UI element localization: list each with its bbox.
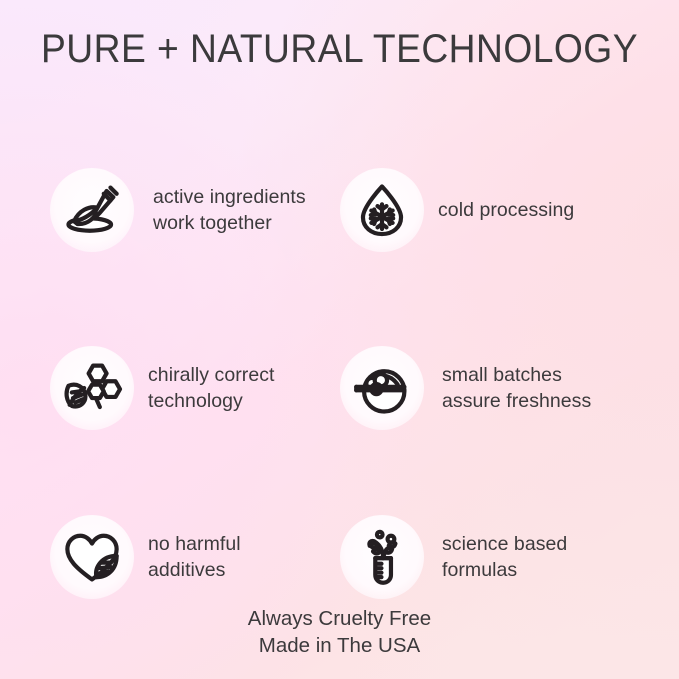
footer-text: Always Cruelty Free Made in The USA <box>0 606 679 659</box>
dropper-leaf-dish-icon <box>50 168 134 252</box>
test-tube-plant-icon <box>340 515 424 599</box>
spoon-scoop-cream-icon <box>340 346 424 430</box>
feature-label: active ingredients work together <box>148 184 306 236</box>
feature-label: small batches assure freshness <box>438 362 591 414</box>
poster-canvas: PURE + NATURAL TECHNOLOGY active ingredi… <box>0 0 679 679</box>
feature-item-chirally-correct: chirally correct technology <box>38 299 334 477</box>
page-title: PURE + NATURAL TECHNOLOGY <box>24 22 655 76</box>
feature-item-cold-processing: cold processing <box>334 121 648 299</box>
feature-item-active-ingredients: active ingredients work together <box>38 121 334 299</box>
feature-label: no harmful additives <box>148 531 241 583</box>
feature-item-small-batches: small batches assure freshness <box>334 299 648 477</box>
feature-label: science based formulas <box>438 531 567 583</box>
feature-label: chirally correct technology <box>148 362 275 414</box>
snowflake-droplet-icon <box>340 168 424 252</box>
feature-grid: active ingredients work together <box>38 121 648 637</box>
feature-label: cold processing <box>438 197 574 223</box>
heart-leaf-icon <box>50 515 134 599</box>
molecule-hexagons-leaf-icon <box>50 346 134 430</box>
